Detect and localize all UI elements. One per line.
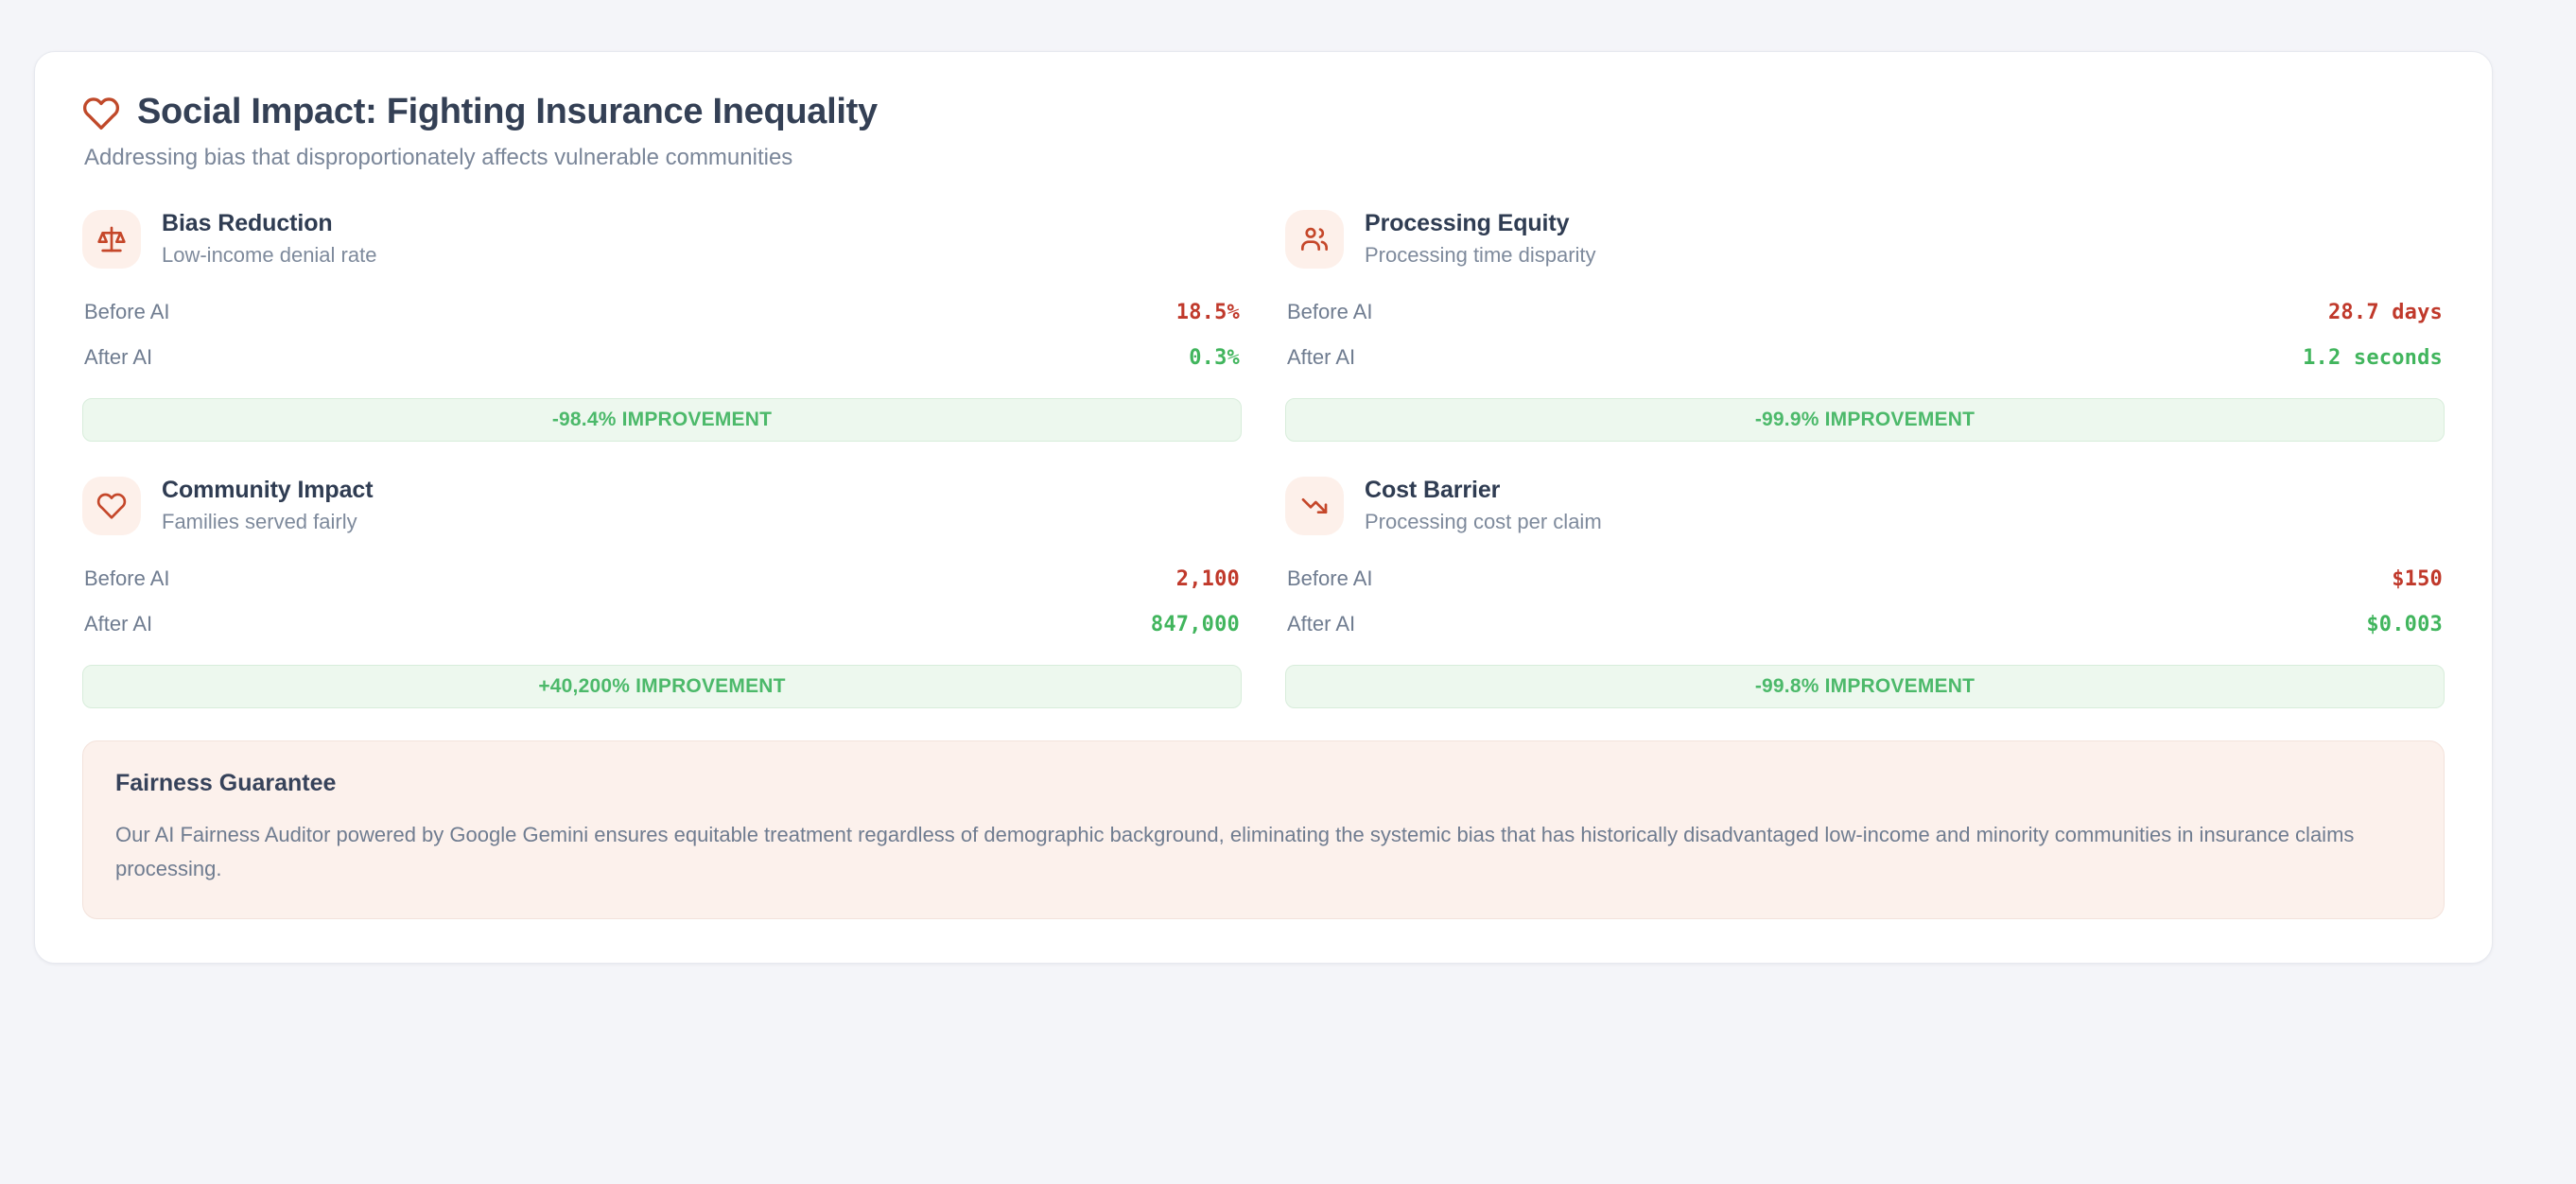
after-label: After AI [84, 345, 152, 370]
after-label: After AI [1287, 612, 1355, 636]
metric-row-before: Before AI 2,100 [82, 561, 1242, 606]
metric-label: Bias Reduction [162, 209, 376, 237]
metric-sublabel: Families served fairly [162, 510, 373, 534]
page-title: Social Impact: Fighting Insurance Inequa… [137, 92, 878, 133]
metric-card-processing-equity: Processing Equity Processing time dispar… [1285, 203, 2445, 442]
page-root: Social Impact: Fighting Insurance Inequa… [0, 0, 2576, 1184]
metric-head: Bias Reduction Low-income denial rate [82, 209, 1242, 270]
heart-icon [82, 95, 120, 132]
before-value: 28.7 days [2328, 301, 2443, 324]
metric-label: Processing Equity [1365, 209, 1596, 237]
users-icon [1285, 210, 1344, 269]
metric-head: Cost Barrier Processing cost per claim [1285, 476, 2445, 536]
metric-head: Processing Equity Processing time dispar… [1285, 209, 2445, 270]
heart-icon [82, 477, 141, 535]
trending-down-icon [1285, 477, 1344, 535]
guarantee-title: Fairness Guarantee [115, 770, 2411, 797]
after-value: 847,000 [1151, 613, 1240, 636]
metrics-grid: Bias Reduction Low-income denial rate Be… [82, 203, 2445, 709]
improvement-badge: -99.8% IMPROVEMENT [1285, 665, 2445, 708]
before-label: Before AI [1287, 300, 1373, 324]
social-impact-panel: Social Impact: Fighting Insurance Inequa… [34, 51, 2493, 964]
metric-card-cost-barrier: Cost Barrier Processing cost per claim B… [1285, 470, 2445, 708]
scales-balance-icon [82, 210, 141, 269]
fairness-guarantee-callout: Fairness Guarantee Our AI Fairness Audit… [82, 740, 2445, 918]
metric-heading-text: Community Impact Families served fairly [162, 476, 373, 536]
metric-row-before: Before AI $150 [1285, 561, 2445, 606]
before-value: $150 [2392, 567, 2443, 591]
after-value: 1.2 seconds [2303, 346, 2443, 370]
after-value: $0.003 [2366, 613, 2443, 636]
metric-heading-text: Bias Reduction Low-income denial rate [162, 209, 376, 270]
before-label: Before AI [1287, 566, 1373, 591]
metric-sublabel: Low-income denial rate [162, 243, 376, 268]
title-row: Social Impact: Fighting Insurance Inequa… [82, 92, 2445, 133]
metric-row-after: After AI $0.003 [1285, 606, 2445, 652]
metric-row-after: After AI 847,000 [82, 606, 1242, 652]
metric-row-before: Before AI 18.5% [82, 294, 1242, 340]
before-label: Before AI [84, 566, 170, 591]
improvement-badge: -99.9% IMPROVEMENT [1285, 398, 2445, 442]
metric-head: Community Impact Families served fairly [82, 476, 1242, 536]
metric-row-after: After AI 0.3% [82, 340, 1242, 385]
before-value: 18.5% [1176, 301, 1240, 324]
after-value: 0.3% [1189, 346, 1240, 370]
metric-heading-text: Cost Barrier Processing cost per claim [1365, 476, 1602, 536]
page-subtitle: Addressing bias that disproportionately … [84, 145, 2445, 171]
metric-sublabel: Processing time disparity [1365, 243, 1596, 268]
metric-label: Community Impact [162, 476, 373, 504]
metric-card-bias-reduction: Bias Reduction Low-income denial rate Be… [82, 203, 1242, 442]
after-label: After AI [1287, 345, 1355, 370]
metric-heading-text: Processing Equity Processing time dispar… [1365, 209, 1596, 270]
metric-sublabel: Processing cost per claim [1365, 510, 1602, 534]
guarantee-body: Our AI Fairness Auditor powered by Googl… [115, 818, 2404, 885]
metric-row-before: Before AI 28.7 days [1285, 294, 2445, 340]
after-label: After AI [84, 612, 152, 636]
metric-label: Cost Barrier [1365, 476, 1602, 504]
before-label: Before AI [84, 300, 170, 324]
panel-header: Social Impact: Fighting Insurance Inequa… [82, 92, 2445, 171]
before-value: 2,100 [1176, 567, 1240, 591]
improvement-badge: -98.4% IMPROVEMENT [82, 398, 1242, 442]
improvement-badge: +40,200% IMPROVEMENT [82, 665, 1242, 708]
metric-card-community-impact: Community Impact Families served fairly … [82, 470, 1242, 708]
metric-row-after: After AI 1.2 seconds [1285, 340, 2445, 385]
